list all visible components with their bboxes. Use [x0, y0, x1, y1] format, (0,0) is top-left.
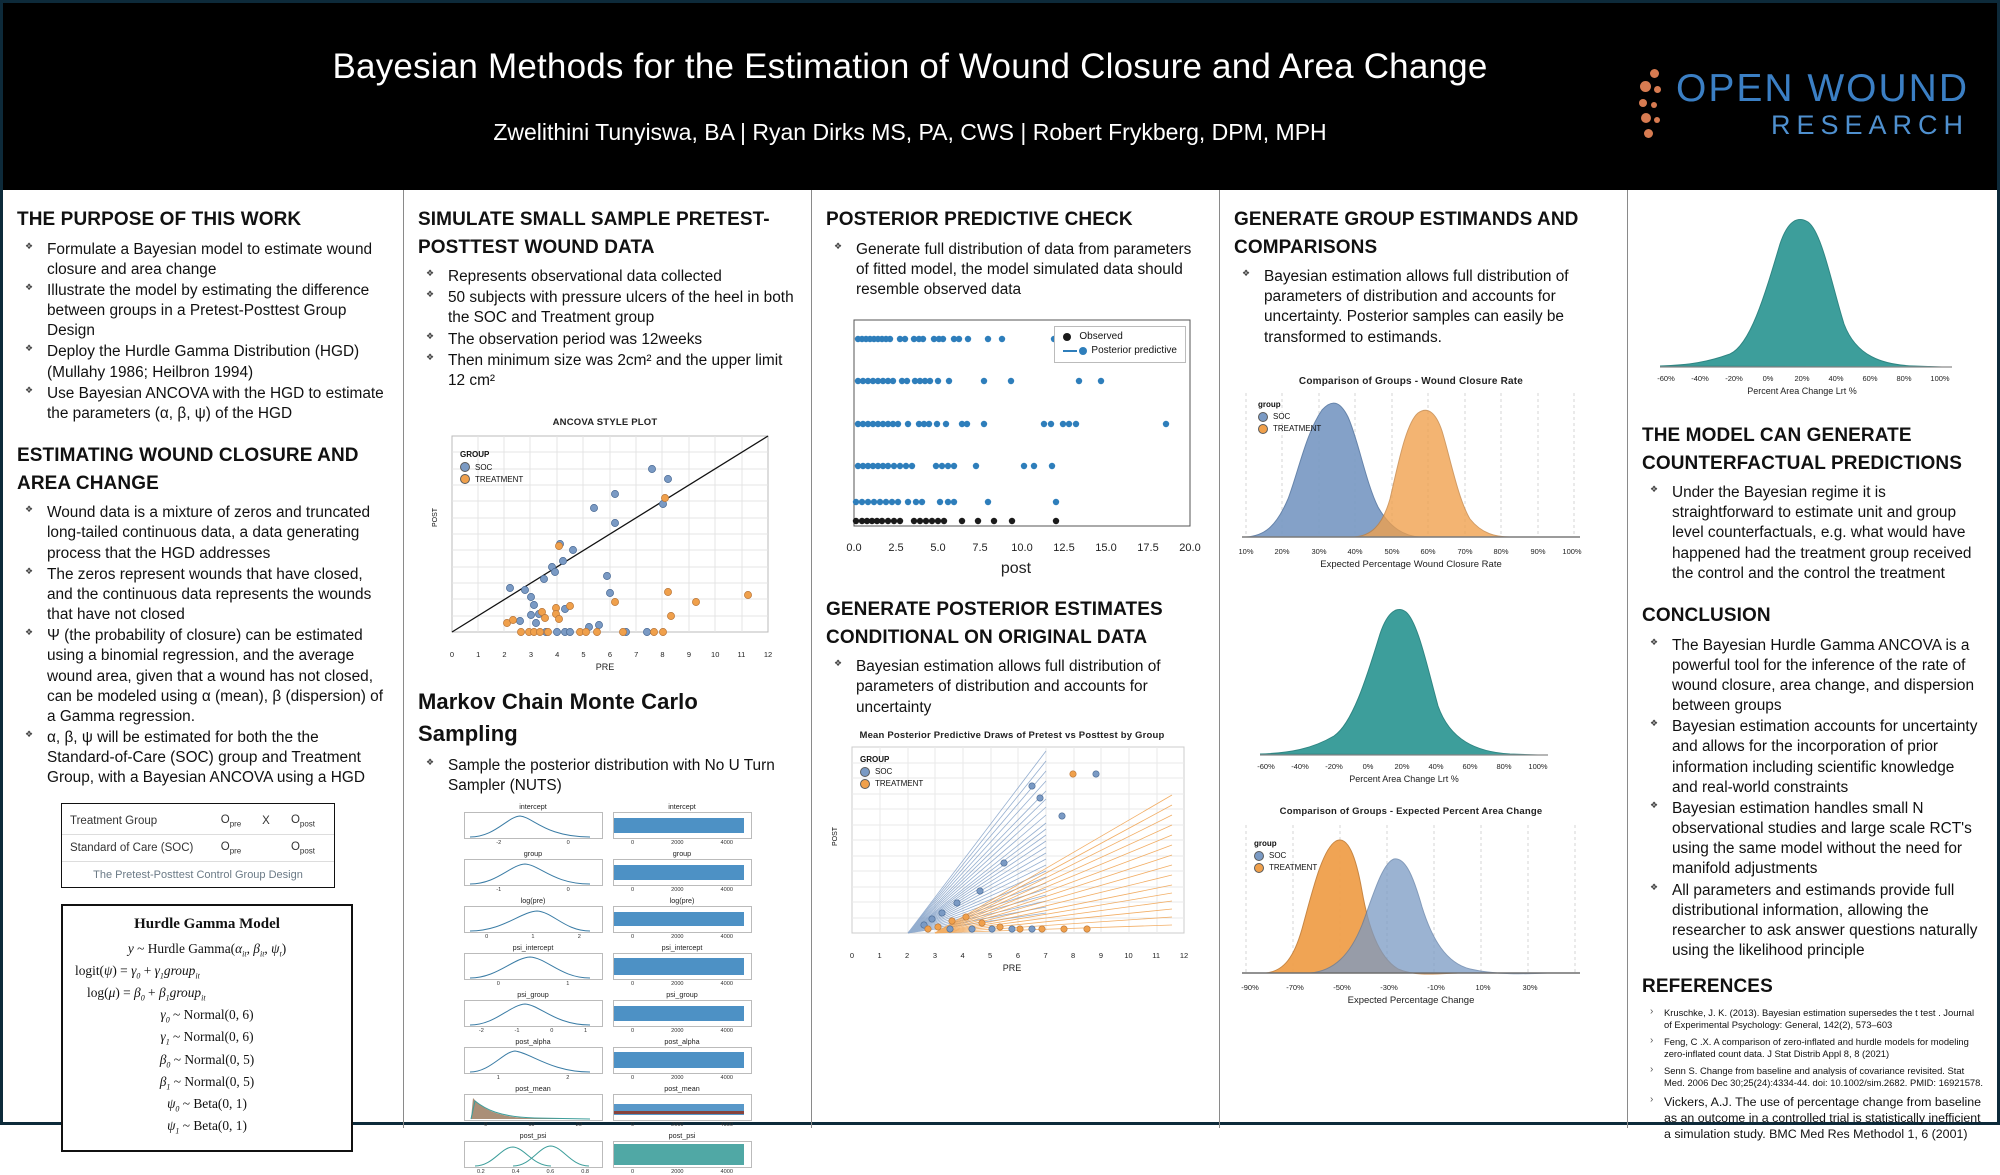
mcmc-trace-cell: intercept020004000: [613, 802, 752, 846]
density-panel: [464, 812, 603, 839]
x-tick: 10.0: [1011, 542, 1032, 554]
x-tick: 20%: [1394, 762, 1409, 771]
list-item: Then minimum size was 2cm² and the upper…: [418, 351, 797, 391]
x-axis-label: Expected Percentage Change: [1238, 995, 1584, 1006]
tick: 2: [578, 934, 581, 940]
tick: 0: [631, 934, 634, 940]
panel-title: post_mean: [464, 1084, 603, 1093]
x-axis-label: Expected Percentage Wound Closure Rate: [1238, 559, 1584, 570]
tick: 0.6: [546, 1169, 554, 1175]
x-tick: 1: [877, 951, 881, 960]
x-tick: 7: [1043, 951, 1047, 960]
tick: 0: [567, 887, 570, 893]
tick: 4000: [721, 1075, 733, 1081]
legend-swatch-icon: [860, 767, 870, 777]
panel-title: post_psi: [464, 1131, 603, 1140]
x-tick: 60%: [1862, 374, 1877, 383]
legend-label: SOC: [1269, 851, 1286, 860]
chart-title: Comparison of Groups - Expected Percent …: [1238, 806, 1584, 817]
ppc-legend: Observed Posterior predictive: [1054, 326, 1186, 363]
x-tick: 9: [1099, 951, 1103, 960]
tick: 1: [531, 934, 534, 940]
percent-area-change-comparison-chart: Comparison of Groups - Expected Percent …: [1238, 806, 1584, 1006]
x-axis-ticks: 0 1 2 3 4 5 6 7 8 9 10 11 12: [852, 951, 1184, 963]
x-tick: 100%: [1930, 374, 1949, 383]
x-tick: 7: [634, 650, 638, 659]
tick: 0: [631, 840, 634, 846]
x-tick: -40%: [1691, 374, 1709, 383]
model-equation: ψ1 ~ Beta(0, 1): [71, 1116, 343, 1138]
panel-title: post_psi: [613, 1131, 752, 1140]
panel-title: psi_intercept: [613, 943, 752, 952]
tick: 2000: [671, 1028, 683, 1034]
trace-panel: [613, 1000, 752, 1027]
list-item: Deploy the Hurdle Gamma Distribution (HG…: [17, 342, 389, 382]
column-2: Simulate Small sample pretest-posttest w…: [403, 190, 811, 1128]
x-tick: 0: [850, 951, 854, 960]
posterior-predictive-check-plot: Observed Posterior predictive 0.0 2.5 5.…: [836, 314, 1196, 578]
panel-title: post_alpha: [613, 1037, 752, 1046]
list-item: All parameters and estimands provide ful…: [1642, 881, 1983, 962]
list-item: 50 subjects with pressure ulcers of the …: [418, 288, 797, 328]
column-3: Posterior Predictive check Generate full…: [811, 190, 1219, 1128]
tick: 0: [550, 1028, 553, 1034]
legend-item: TREATMENT: [460, 474, 523, 484]
tick: 2000: [671, 840, 683, 846]
mcmc-density-cell: post_psi0.20.40.60.8: [464, 1131, 603, 1175]
logo-dots-icon: [1638, 69, 1672, 143]
hurdle-gamma-model-box: Hurdle Gamma Model y ~ Hurdle Gamma(αit,…: [61, 904, 353, 1152]
x-tick: -90%: [1241, 983, 1259, 992]
mcmc-trace-grid: intercept-20 intercept020004000 group-10…: [464, 802, 752, 1175]
x-tick: 12: [764, 650, 772, 659]
legend-title: GROUP: [860, 755, 923, 764]
tick: 2000: [671, 1169, 683, 1175]
x-tick: -50%: [1333, 983, 1351, 992]
tick: 2000: [671, 981, 683, 987]
chart-legend: GROUP SOC TREATMENT: [860, 755, 923, 791]
column-1: The purpose of this work Formulate a Bay…: [3, 190, 403, 1128]
wound-closure-rate-comparison-chart: Comparison of Groups - Wound Closure Rat…: [1238, 376, 1584, 570]
list-item: The zeros represent wounds that have clo…: [17, 565, 389, 626]
x-axis-ticks: -60% -40% -20% 0% 20% 40% 60% 80% 100%: [1642, 374, 1984, 386]
list-item: Wound data is a mixture of zeros and tru…: [17, 503, 389, 564]
logo-text-primary: OPEN WOUND: [1676, 69, 1969, 108]
x-tick: -10%: [1427, 983, 1445, 992]
reference-item: Feng, C .X. A comparison of zero-inflate…: [1642, 1036, 1983, 1060]
legend-label: TREATMENT: [1269, 863, 1317, 872]
column-5: -60% -40% -20% 0% 20% 40% 60% 80% 100% P…: [1627, 190, 1997, 1128]
chart-legend: GROUP SOC TREATMENT: [460, 450, 523, 486]
tick: -1: [496, 887, 501, 893]
row-label: Standard of Care (SOC): [70, 842, 210, 854]
tick: 0: [631, 887, 634, 893]
model-equation: β0 ~ Normal(0, 5): [71, 1050, 343, 1072]
legend-swatch-icon: [460, 462, 470, 472]
x-tick: 5.0: [930, 542, 945, 554]
mcmc-density-cell: log(pre)012: [464, 896, 603, 940]
estimating-bullet-list: Wound data is a mixture of zeros and tru…: [17, 503, 389, 788]
x-tick: 20%: [1794, 374, 1809, 383]
trace-panel: [613, 859, 752, 886]
tick: 0: [631, 981, 634, 987]
posterior-estimates-bullet-list: Bayesian estimation allows full distribu…: [826, 657, 1205, 718]
x-tick: 70%: [1457, 547, 1472, 556]
density-panel: [464, 906, 603, 933]
x-tick: 0%: [1763, 374, 1774, 383]
simulate-bullet-list: Represents observational data collected …: [418, 267, 797, 391]
tick: 4000: [721, 887, 733, 893]
trace-panel: [613, 1141, 752, 1168]
area-change-top-canvas: [1642, 206, 1984, 374]
section-title-references: References: [1642, 973, 1983, 1001]
mcmc-density-cell: psi_group-2-101: [464, 990, 603, 1034]
cell-post: Opost: [280, 841, 326, 855]
tick: 1: [566, 981, 569, 987]
reference-item: Vickers, A.J. The use of percentage chan…: [1642, 1094, 1983, 1142]
x-tick: 100%: [1528, 762, 1547, 771]
density-panel: [464, 1000, 603, 1027]
legend-item: SOC: [860, 767, 923, 777]
chart-title: Comparison of Groups - Wound Closure Rat…: [1238, 376, 1584, 387]
x-tick: 17.5: [1137, 542, 1158, 554]
tick: 1: [497, 1075, 500, 1081]
density-panel: [464, 1094, 603, 1121]
x-tick: 60%: [1462, 762, 1477, 771]
percent-area-change-chart-mid: -60% -40% -20% 0% 20% 40% 60% 80% 100% P…: [1238, 594, 1584, 784]
x-tick: -20%: [1725, 374, 1743, 383]
section-title-conclusion: Conclusion: [1642, 602, 1983, 630]
density-panel: [464, 859, 603, 886]
tick: 4000: [721, 1169, 733, 1175]
poster: Bayesian Methods for the Estimation of W…: [0, 0, 2000, 1125]
tick: 0: [497, 981, 500, 987]
panel-title: group: [464, 849, 603, 858]
x-tick: -70%: [1286, 983, 1304, 992]
x-tick: 6: [1016, 951, 1020, 960]
x-tick: 40%: [1347, 547, 1362, 556]
x-axis-label: post: [836, 560, 1196, 578]
legend-swatch-icon: [460, 474, 470, 484]
x-tick: 5: [988, 951, 992, 960]
x-tick: 40%: [1828, 374, 1843, 383]
list-item: Bayesian estimation accounts for uncerta…: [1642, 717, 1983, 798]
tick: 0: [485, 934, 488, 940]
x-tick: 12: [1180, 951, 1188, 960]
list-item: The observation period was 12weeks: [418, 330, 797, 350]
mean-posterior-draws-plot: Mean Posterior Predictive Draws of Prete…: [832, 730, 1192, 973]
tick: 0: [631, 1122, 634, 1128]
open-wound-research-logo: OPEN WOUND RESEARCH: [1638, 69, 1969, 143]
density-panel: [464, 1141, 603, 1168]
mcmc-trace-cell: post_alpha020004000: [613, 1037, 752, 1081]
legend-label: SOC: [1273, 412, 1290, 421]
mcmc-trace-cell: psi_group020004000: [613, 990, 752, 1034]
legend-label: TREATMENT: [475, 475, 523, 484]
list-item: Bayesian estimation allows full distribu…: [1234, 267, 1613, 348]
legend-swatch-icon: [1079, 347, 1087, 355]
list-item: Use Bayesian ANCOVA with the HGD to esti…: [17, 384, 389, 424]
legend-swatch-icon: [1258, 424, 1268, 434]
list-item: Formulate a Bayesian model to estimate w…: [17, 240, 389, 280]
x-axis-label: PRE: [832, 963, 1192, 973]
panel-title: intercept: [464, 802, 603, 811]
section-title-posterior-estimates: Generate posterior estimates conditional…: [826, 596, 1205, 651]
x-axis-label: Percent Area Change Lrt %: [1620, 386, 1984, 396]
legend-swatch-icon: [1254, 863, 1264, 873]
section-title-simulate: Simulate Small sample pretest-posttest w…: [418, 206, 797, 261]
model-equation: γ0 ~ Normal(0, 6): [71, 1005, 343, 1027]
x-tick: 10: [711, 650, 719, 659]
list-item: Represents observational data collected: [418, 267, 797, 287]
purpose-bullet-list: Formulate a Bayesian model to estimate w…: [17, 240, 389, 425]
x-tick: 90%: [1530, 547, 1545, 556]
estimands-bullet-list: Bayesian estimation allows full distribu…: [1234, 267, 1613, 348]
model-equation: γ1 ~ Normal(0, 6): [71, 1027, 343, 1049]
list-item: Sample the posterior distribution with N…: [418, 756, 797, 796]
panel-title: log(pre): [613, 896, 752, 905]
list-item: Ψ (the probability of closure) can be es…: [17, 626, 389, 727]
x-tick: 80%: [1896, 374, 1911, 383]
x-tick: 2.5: [888, 542, 903, 554]
row-label: Treatment Group: [70, 815, 210, 827]
panel-title: log(pre): [464, 896, 603, 905]
legend-title: GROUP: [460, 450, 523, 459]
table-row: Treatment Group Opre X Opost: [62, 808, 334, 835]
tick: 1: [584, 1028, 587, 1034]
tick: 0.4: [512, 1169, 520, 1175]
pretest-posttest-design-table: Treatment Group Opre X Opost Standard of…: [61, 803, 335, 889]
x-tick: 50%: [1384, 547, 1399, 556]
mcmc-trace-cell: log(pre)020004000: [613, 896, 752, 940]
mcmc-density-cell: intercept-20: [464, 802, 603, 846]
x-tick: 8: [660, 650, 664, 659]
table-row: Standard of Care (SOC) Opre Opost: [62, 835, 334, 862]
x-tick: 80%: [1496, 762, 1511, 771]
reference-item: Kruschke, J. K. (2013). Bayesian estimat…: [1642, 1007, 1983, 1031]
tick: 10: [528, 1122, 534, 1128]
x-tick: 11: [1152, 951, 1160, 960]
percent-area-change-chart-top: -60% -40% -20% 0% 20% 40% 60% 80% 100% P…: [1642, 206, 1984, 396]
x-tick: 10%: [1238, 547, 1253, 556]
x-tick: 20.0: [1179, 542, 1200, 554]
x-tick: 20%: [1274, 547, 1289, 556]
trace-panel: [613, 906, 752, 933]
legend-swatch-icon: [1063, 333, 1071, 341]
x-axis-label: Percent Area Change Lrt %: [1224, 774, 1584, 784]
column-4: Generate group estimands and comparisons…: [1219, 190, 1627, 1128]
panel-title: psi_group: [464, 990, 603, 999]
list-item: Generate full distribution of data from …: [826, 240, 1205, 301]
legend-label: Posterior predictive: [1091, 345, 1177, 356]
model-equation: β1 ~ Normal(0, 5): [71, 1072, 343, 1094]
trace-panel: [613, 1047, 752, 1074]
poster-columns: The purpose of this work Formulate a Bay…: [3, 190, 1997, 1128]
density-panel: [464, 1047, 603, 1074]
mcmc-density-cell: psi_intercept01: [464, 943, 603, 987]
cell-post: Opost: [280, 814, 326, 828]
legend-label: SOC: [875, 767, 892, 776]
x-axis-ticks: 10% 20% 30% 40% 50% 60% 70% 80% 90% 100%: [1238, 547, 1584, 559]
model-equation: ψ0 ~ Beta(0, 1): [71, 1094, 343, 1116]
chart-legend: group SOC TREATMENT: [1254, 839, 1317, 875]
x-axis-ticks: -60% -40% -20% 0% 20% 40% 60% 80% 100%: [1238, 762, 1584, 774]
list-item: The Bayesian Hurdle Gamma ANCOVA is a po…: [1642, 636, 1983, 717]
x-tick: 15.0: [1095, 542, 1116, 554]
section-title-estimating: Estimating wound closure and area change: [17, 442, 389, 497]
tick: 20: [576, 1122, 582, 1128]
tick: 4000: [721, 981, 733, 987]
panel-title: intercept: [613, 802, 752, 811]
x-tick: -30%: [1380, 983, 1398, 992]
legend-swatch-icon: [1254, 851, 1264, 861]
tick: -2: [496, 840, 501, 846]
model-equation: log(μ) = β0 + β1groupit: [71, 983, 343, 1005]
panel-title: post_alpha: [464, 1037, 603, 1046]
mcmc-trace-cell: group020004000: [613, 849, 752, 893]
x-tick: 100%: [1562, 547, 1581, 556]
ancova-style-plot: ANCOVA STYLE PLOT POST: [430, 417, 780, 672]
x-tick: 2: [905, 951, 909, 960]
tick: 4000: [721, 1122, 733, 1128]
legend-label: TREATMENT: [1273, 424, 1321, 433]
x-axis-ticks: -90% -70% -50% -30% -10% 10% 30%: [1238, 983, 1584, 995]
counterfactual-bullet-list: Under the Bayesian regime it is straight…: [1642, 483, 1983, 584]
mcmc-trace-cell: post_psi020004000: [613, 1131, 752, 1175]
tick: 0: [631, 1075, 634, 1081]
legend-item: SOC: [460, 462, 523, 472]
tick: 0: [631, 1169, 634, 1175]
x-tick: 10: [1124, 951, 1132, 960]
x-tick: 80%: [1493, 547, 1508, 556]
table-caption: The Pretest-Posttest Control Group Desig…: [62, 862, 334, 885]
x-tick: 7.5: [972, 542, 987, 554]
legend-item: Observed: [1063, 331, 1177, 342]
trace-panel: [613, 1094, 752, 1121]
tick: -2: [479, 1028, 484, 1034]
legend-item: TREATMENT: [1254, 863, 1317, 873]
tick: 4000: [721, 840, 733, 846]
x-tick: 11: [738, 650, 746, 659]
legend-label: Observed: [1079, 331, 1122, 342]
tick: 4000: [721, 1028, 733, 1034]
mcmc-trace-cell: psi_intercept020004000: [613, 943, 752, 987]
logo-text-secondary: RESEARCH: [1676, 112, 1969, 139]
mcmc-density-cell: group-10: [464, 849, 603, 893]
tick: 0: [567, 840, 570, 846]
legend-item: TREATMENT: [1258, 424, 1321, 434]
legend-swatch-icon: [1258, 412, 1268, 422]
list-item: Bayesian estimation allows full distribu…: [826, 657, 1205, 718]
author-list: Zwelithini Tunyiswa, BA | Ryan Dirks MS,…: [3, 120, 1817, 145]
model-equation: logit(ψ) = γ0 + γ1groupit: [71, 961, 343, 983]
mcmc-density-cell: post_mean01020: [464, 1084, 603, 1128]
section-title-estimands: Generate group estimands and comparisons: [1234, 206, 1613, 261]
x-tick: 0: [450, 650, 454, 659]
legend-line-icon: [1063, 350, 1077, 352]
tick: 2000: [671, 1122, 683, 1128]
x-tick: 9: [687, 650, 691, 659]
reference-item: Senn S. Change from baseline and analysi…: [1642, 1065, 1983, 1089]
section-title-mcmc: Markov Chain Monte Carlo Sampling: [418, 686, 797, 750]
legend-label: TREATMENT: [875, 779, 923, 788]
panel-title: psi_intercept: [464, 943, 603, 952]
y-axis-label: POST: [832, 827, 839, 846]
x-tick: 6: [608, 650, 612, 659]
tick: -1: [515, 1028, 520, 1034]
chart-title: ANCOVA STYLE PLOT: [430, 417, 780, 428]
x-tick: 3: [933, 951, 937, 960]
cell-pre: Opre: [210, 814, 252, 828]
model-box-title: Hurdle Gamma Model: [71, 916, 343, 933]
x-tick: -40%: [1291, 762, 1309, 771]
poster-header: Bayesian Methods for the Estimation of W…: [3, 3, 1997, 190]
references-list: Kruschke, J. K. (2013). Bayesian estimat…: [1642, 1007, 1983, 1143]
tick: 0: [631, 1028, 634, 1034]
mcmc-density-cell: post_alpha12: [464, 1037, 603, 1081]
x-axis-ticks: 0 1 2 3 4 5 6 7 8 9 10 11 12: [452, 650, 768, 662]
x-axis-ticks: 0.0 2.5 5.0 7.5 10.0 12.5 15.0 17.5 20.0: [854, 542, 1190, 556]
area-change-kde-canvas: [1238, 594, 1584, 762]
panel-title: psi_group: [613, 990, 752, 999]
x-tick: -20%: [1325, 762, 1343, 771]
trace-panel: [613, 812, 752, 839]
legend-title: group: [1254, 839, 1317, 848]
mcmc-trace-cell: post_mean020004000: [613, 1084, 752, 1128]
legend-title: group: [1258, 400, 1321, 409]
list-item: Illustrate the model by estimating the d…: [17, 281, 389, 342]
x-tick: 2: [502, 650, 506, 659]
panel-title: post_mean: [613, 1084, 752, 1093]
x-axis-label: PRE: [430, 662, 780, 672]
conclusion-bullet-list: The Bayesian Hurdle Gamma ANCOVA is a po…: [1642, 636, 1983, 962]
ppc-bullet-list: Generate full distribution of data from …: [826, 240, 1205, 301]
section-title-posterior-predictive: Posterior Predictive check: [826, 206, 1205, 234]
legend-item: Posterior predictive: [1063, 345, 1177, 356]
tick: 0: [484, 1122, 487, 1128]
legend-item: SOC: [1258, 412, 1321, 422]
x-tick: 1: [476, 650, 480, 659]
x-tick: 30%: [1522, 983, 1537, 992]
cell-x: X: [252, 815, 280, 827]
tick: 0.8: [581, 1169, 589, 1175]
tick: 2000: [671, 934, 683, 940]
x-tick: -60%: [1257, 762, 1275, 771]
x-tick: 8: [1071, 951, 1075, 960]
tick: 2000: [671, 887, 683, 893]
chart-legend: group SOC TREATMENT: [1258, 400, 1321, 436]
x-tick: 5: [581, 650, 585, 659]
list-item: Bayesian estimation handles small N obse…: [1642, 799, 1983, 880]
x-tick: 0%: [1363, 762, 1374, 771]
tick: 0.2: [477, 1169, 485, 1175]
x-tick: 4: [960, 951, 964, 960]
tick: 2: [566, 1075, 569, 1081]
x-tick: 0.0: [846, 542, 861, 554]
x-tick: -60%: [1657, 374, 1675, 383]
list-item: Under the Bayesian regime it is straight…: [1642, 483, 1983, 584]
model-equation: y ~ Hurdle Gamma(αit, βit, ψt): [71, 939, 343, 961]
legend-label: SOC: [475, 463, 492, 472]
x-tick: 12.5: [1053, 542, 1074, 554]
mcmc-bullet-list: Sample the posterior distribution with N…: [418, 756, 797, 796]
y-axis-label: POST: [432, 508, 439, 527]
density-panel: [464, 953, 603, 980]
tick: 4000: [721, 934, 733, 940]
section-title-purpose: The purpose of this work: [17, 206, 389, 234]
legend-item: SOC: [1254, 851, 1317, 861]
list-item: α, β, ψ will be estimated for both the t…: [17, 728, 389, 789]
